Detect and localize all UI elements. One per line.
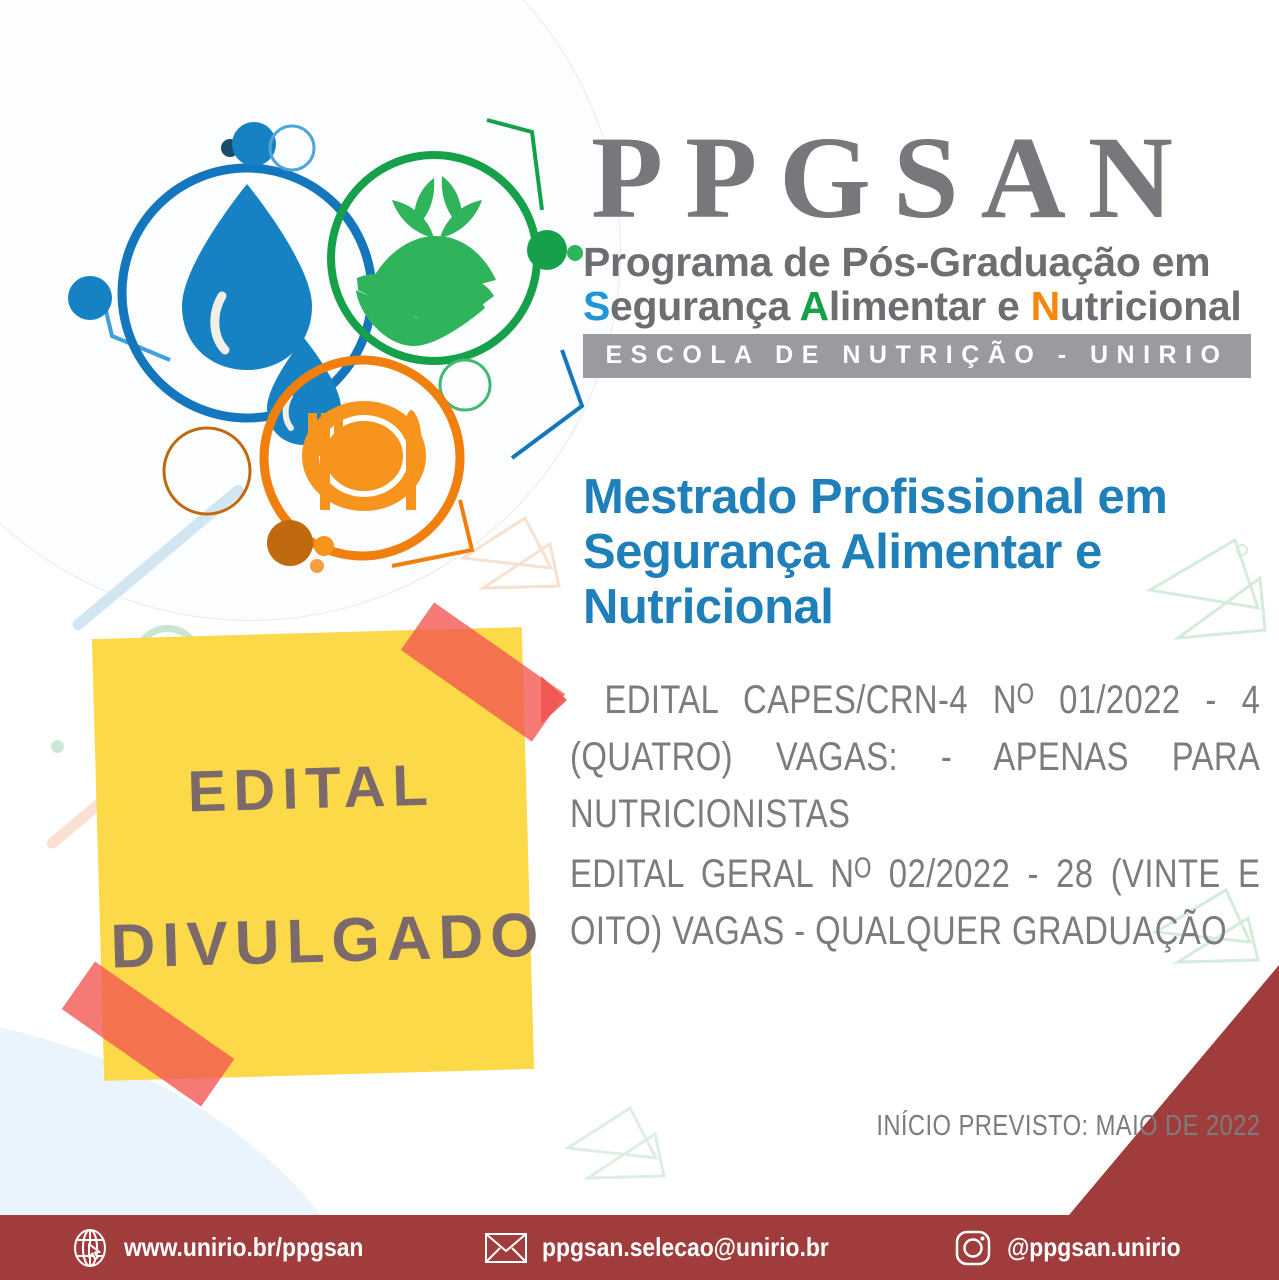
brand-word-nutricional: utricional [1060,283,1242,329]
footer-website-label: www.unirio.br/ppgsan [124,1232,363,1263]
ppgsan-logo-graphic [62,58,607,578]
background-dot-green [51,740,64,753]
footer-email[interactable]: ppgsan.selecao@unirio.br [484,1231,868,1265]
brand-subtitle-line1: Programa de Pós-Graduação em [583,240,1258,284]
edital-capes-paragraph: EDITAL CAPES/CRN-4 Nᴼ 01/2022 - 4 (QUATR… [570,672,1260,842]
start-date-note: INÍCIO PREVISTO: MAIO DE 2022 [570,1110,1260,1143]
globe-icon [70,1228,110,1268]
school-bar: ESCOLA DE NUTRIÇÃO - UNIRIO [583,334,1251,378]
footer-instagram[interactable]: @ppgsan.unirio [953,1228,1204,1268]
sticky-note-line1: EDITAL [105,749,517,827]
brand-initial-n: N [1031,283,1060,329]
poster-canvas: PPGSAN Programa de Pós-Graduação em Segu… [0,0,1279,1280]
course-title: Mestrado Profissional em Segurança Alime… [583,470,1263,635]
brand-word-alimentar: limentar e [829,283,1031,329]
brand-subtitle-line2: Segurança Alimentar e Nutricional [583,284,1258,328]
announcement-body: EDITAL CAPES/CRN-4 Nᴼ 01/2022 - 4 (QUATR… [570,672,1260,964]
instagram-icon [953,1228,993,1268]
brand-initial-s: S [583,283,610,329]
brand-word-seguranca: egurança [610,283,799,329]
footer-instagram-label: @ppgsan.unirio [1007,1232,1181,1263]
brand-initial-a: A [800,283,829,329]
sticky-note-line2: DIVULGADO [110,900,522,982]
edital-geral-paragraph: EDITAL GERAL Nᴼ 02/2022 - 28 (VINTE E OI… [570,846,1260,960]
brand-block: PPGSAN Programa de Pós-Graduação em Segu… [583,120,1258,378]
footer-website[interactable]: www.unirio.br/ppgsan [70,1228,396,1268]
envelope-icon [484,1231,528,1265]
footer-email-label: ppgsan.selecao@unirio.br [542,1232,829,1263]
brand-acronym: PPGSAN [591,120,1258,236]
background-wedge-bottom-right [1069,965,1279,1215]
contact-footer: www.unirio.br/ppgsan ppgsan.selecao@unir… [0,1215,1279,1280]
sticky-note: EDITAL DIVULGADO [98,633,538,1088]
start-date-text: INÍCIO PREVISTO: MAIO DE 2022 [876,1110,1260,1143]
